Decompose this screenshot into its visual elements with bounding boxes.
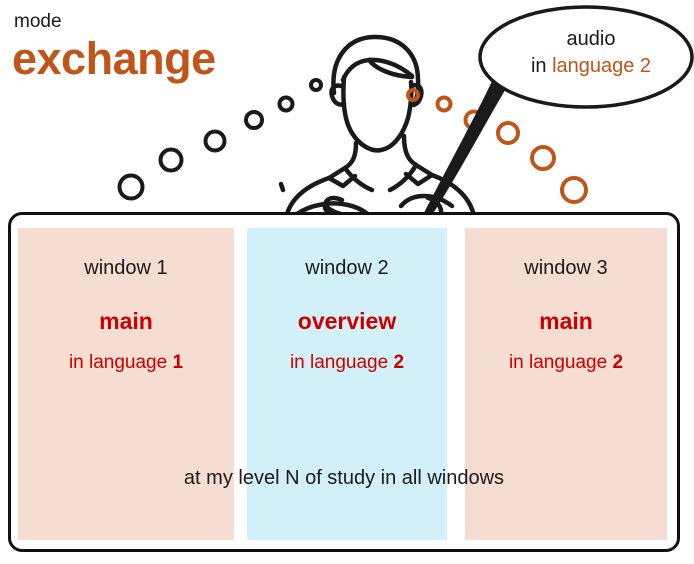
window-2-language-number: 2 (393, 352, 404, 373)
bubble-language-highlight: language 2 (552, 55, 651, 77)
window-2-kind: overview (247, 310, 447, 333)
mode-label: mode (14, 12, 62, 31)
window-1-content: window 1 main in language 1 (18, 228, 234, 372)
window-2-language: in language 2 (247, 353, 447, 372)
window-1-title: window 1 (18, 258, 234, 278)
window-2-content: window 2 overview in language 2 (247, 228, 447, 372)
bubble-in-prefix: in (531, 55, 552, 77)
window-1-language-number: 1 (172, 352, 183, 373)
window-3-content: window 3 main in language 2 (465, 228, 667, 372)
window-3-kind: main (465, 310, 667, 333)
window-2-language-prefix: in language (290, 352, 394, 373)
bubble-line-audio: audio (497, 26, 685, 53)
window-1-language: in language 1 (18, 353, 234, 372)
window-panel-1[interactable]: window 1 main in language 1 (18, 228, 234, 540)
window-3-title: window 3 (465, 258, 667, 278)
footer-note: at my level N of study in all windows (8, 468, 680, 488)
window-3-language-prefix: in language (509, 352, 613, 373)
window-3-language: in language 2 (465, 353, 667, 372)
window-panel-2[interactable]: window 2 overview in language 2 (247, 228, 447, 540)
window-panel-3[interactable]: window 3 main in language 2 (465, 228, 667, 540)
mode-title: exchange (12, 36, 216, 81)
window-2-title: window 2 (247, 258, 447, 278)
diagram-canvas: mode exchange (0, 0, 694, 564)
window-1-kind: main (18, 310, 234, 333)
bubble-line-language: in language 2 (497, 53, 685, 80)
bubble-text: audio in language 2 (497, 26, 685, 80)
window-3-language-number: 2 (612, 352, 623, 373)
windows-container: window 1 main in language 1 window 2 ove… (8, 212, 680, 552)
window-1-language-prefix: in language (69, 352, 173, 373)
